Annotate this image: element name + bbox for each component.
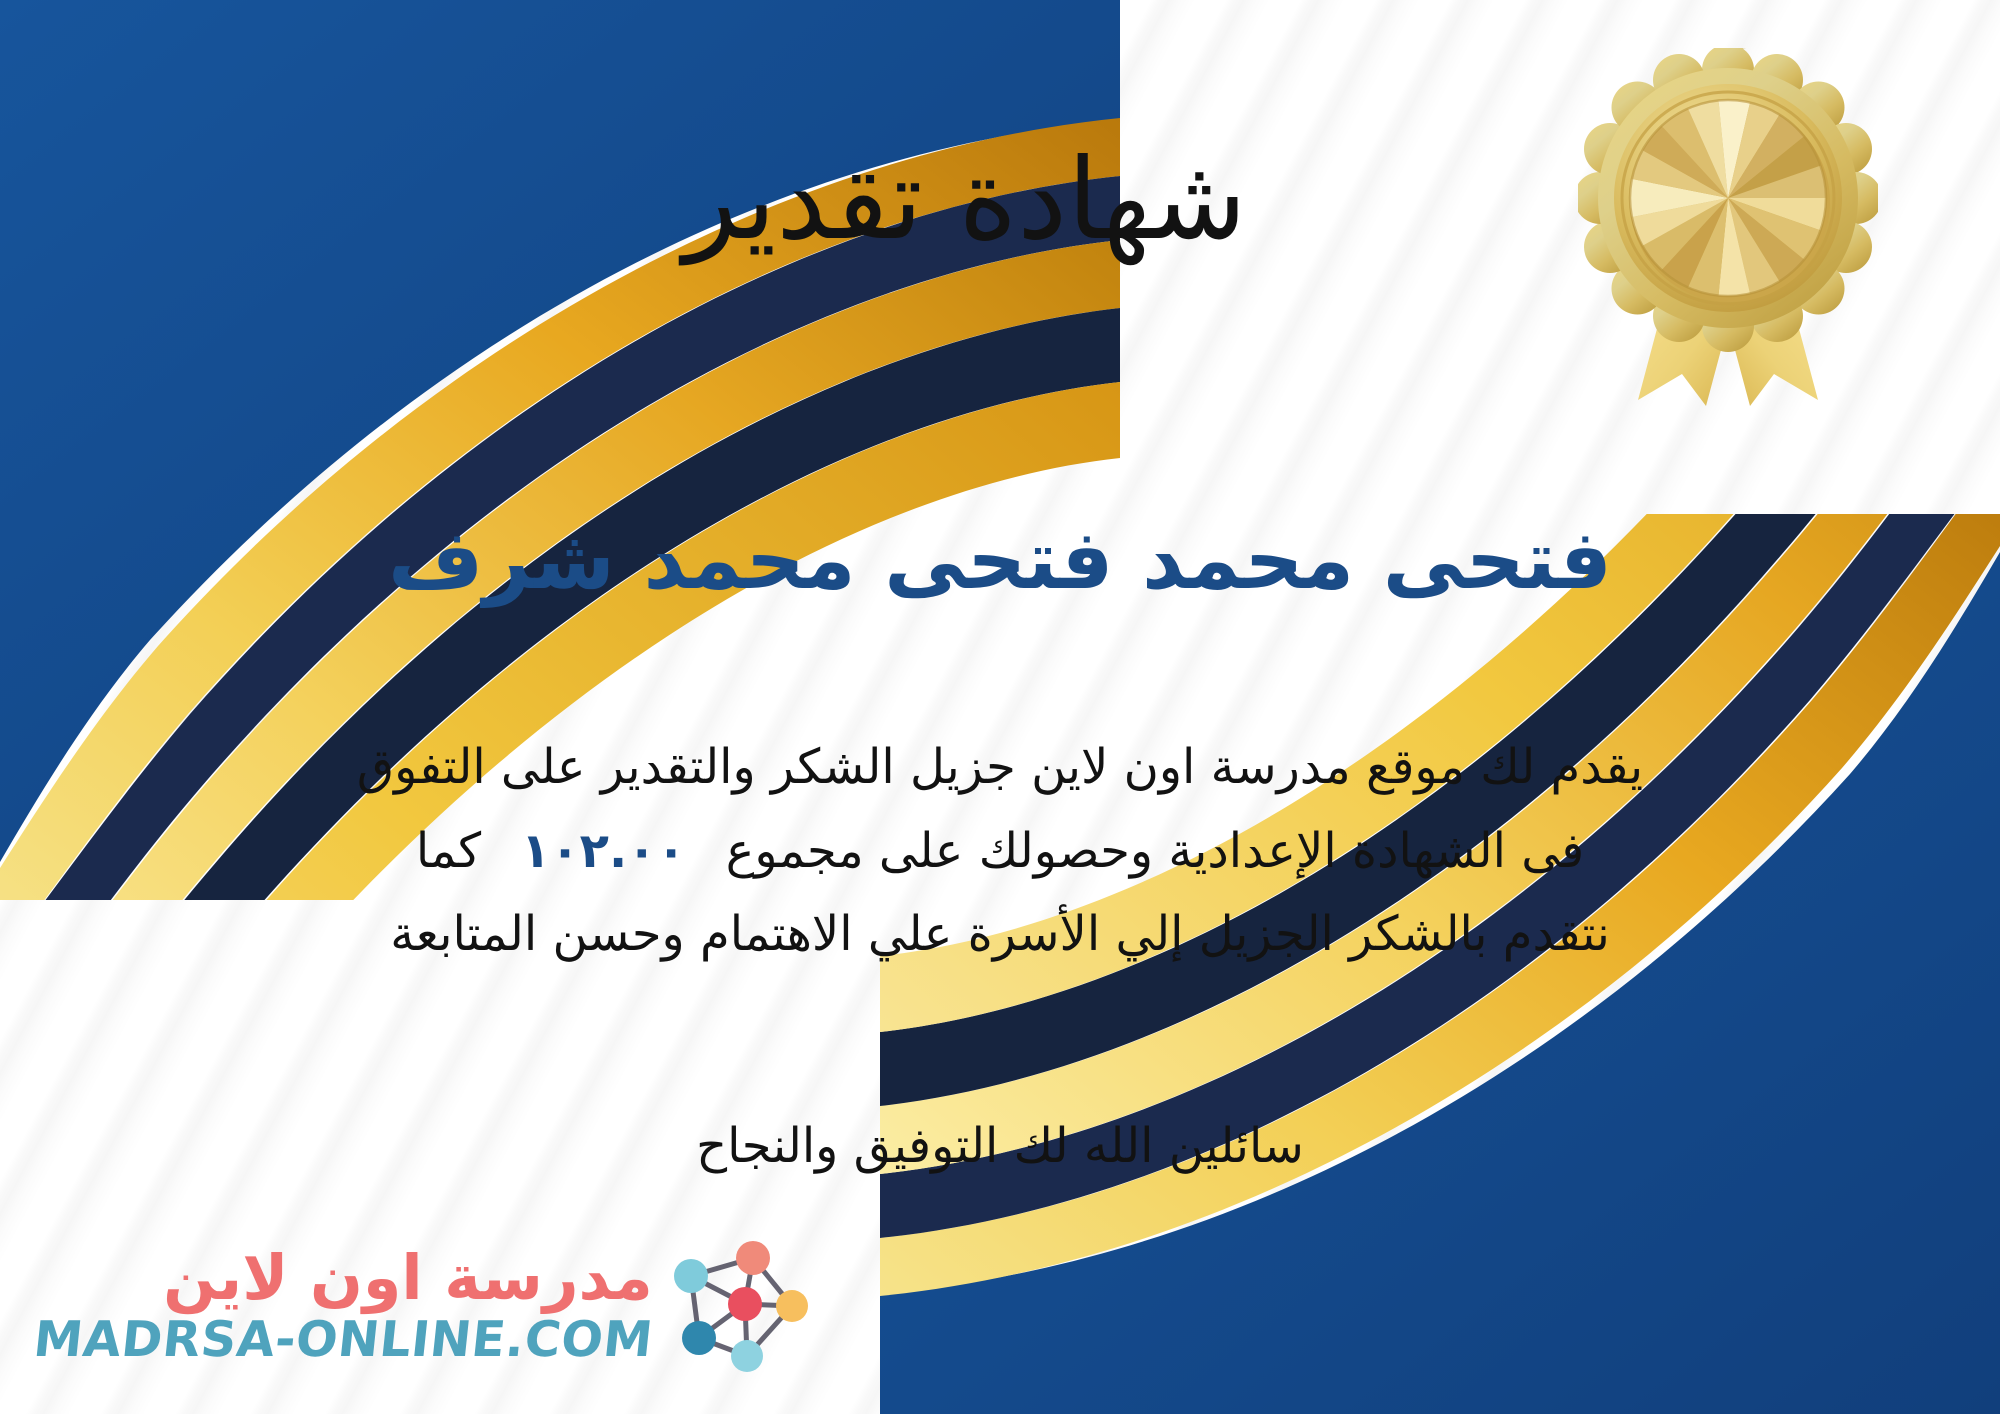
body-line-2-suffix: كما <box>416 823 481 879</box>
body-line-2-prefix: فى الشهادة الإعدادية وحصولك على مجموع <box>726 823 1584 879</box>
logo-arabic-name: مدرسة اون لاين <box>163 1247 653 1309</box>
certificate-canvas: شهادة تقدير فتحى محمد فتحى محمد شرف يقدم… <box>0 0 2000 1414</box>
recipient-name: فتحى محمد فتحى محمد شرف <box>0 512 2000 610</box>
body-line-1: يقدم لك موقع مدرسة اون لاين جزيل الشكر و… <box>46 726 1954 810</box>
logo-domain-text: MADRSA-ONLINE.COM <box>31 1315 655 1364</box>
network-nodes-icon <box>667 1230 817 1380</box>
certificate-body: يقدم لك موقع مدرسة اون لاين جزيل الشكر و… <box>46 726 1954 977</box>
logo-text-block: مدرسة اون لاين MADRSA-ONLINE.COM <box>34 1247 653 1364</box>
page-title: شهادة تقدير <box>0 138 2000 263</box>
certificate-content: شهادة تقدير فتحى محمد فتحى محمد شرف يقدم… <box>0 0 2000 1414</box>
body-line-2: فى الشهادة الإعدادية وحصولك على مجموع١٠٢… <box>46 810 1954 894</box>
grade-total-value: ١٠٢.٠٠ <box>481 823 726 879</box>
closing-wish-text: سائلين الله لك التوفيق والنجاح <box>0 1110 2000 1182</box>
body-line-3: نتقدم بالشكر الجزيل إلي الأسرة علي الاهت… <box>46 893 1954 977</box>
site-logo[interactable]: مدرسة اون لاين MADRSA-ONLINE.COM <box>34 1230 817 1380</box>
